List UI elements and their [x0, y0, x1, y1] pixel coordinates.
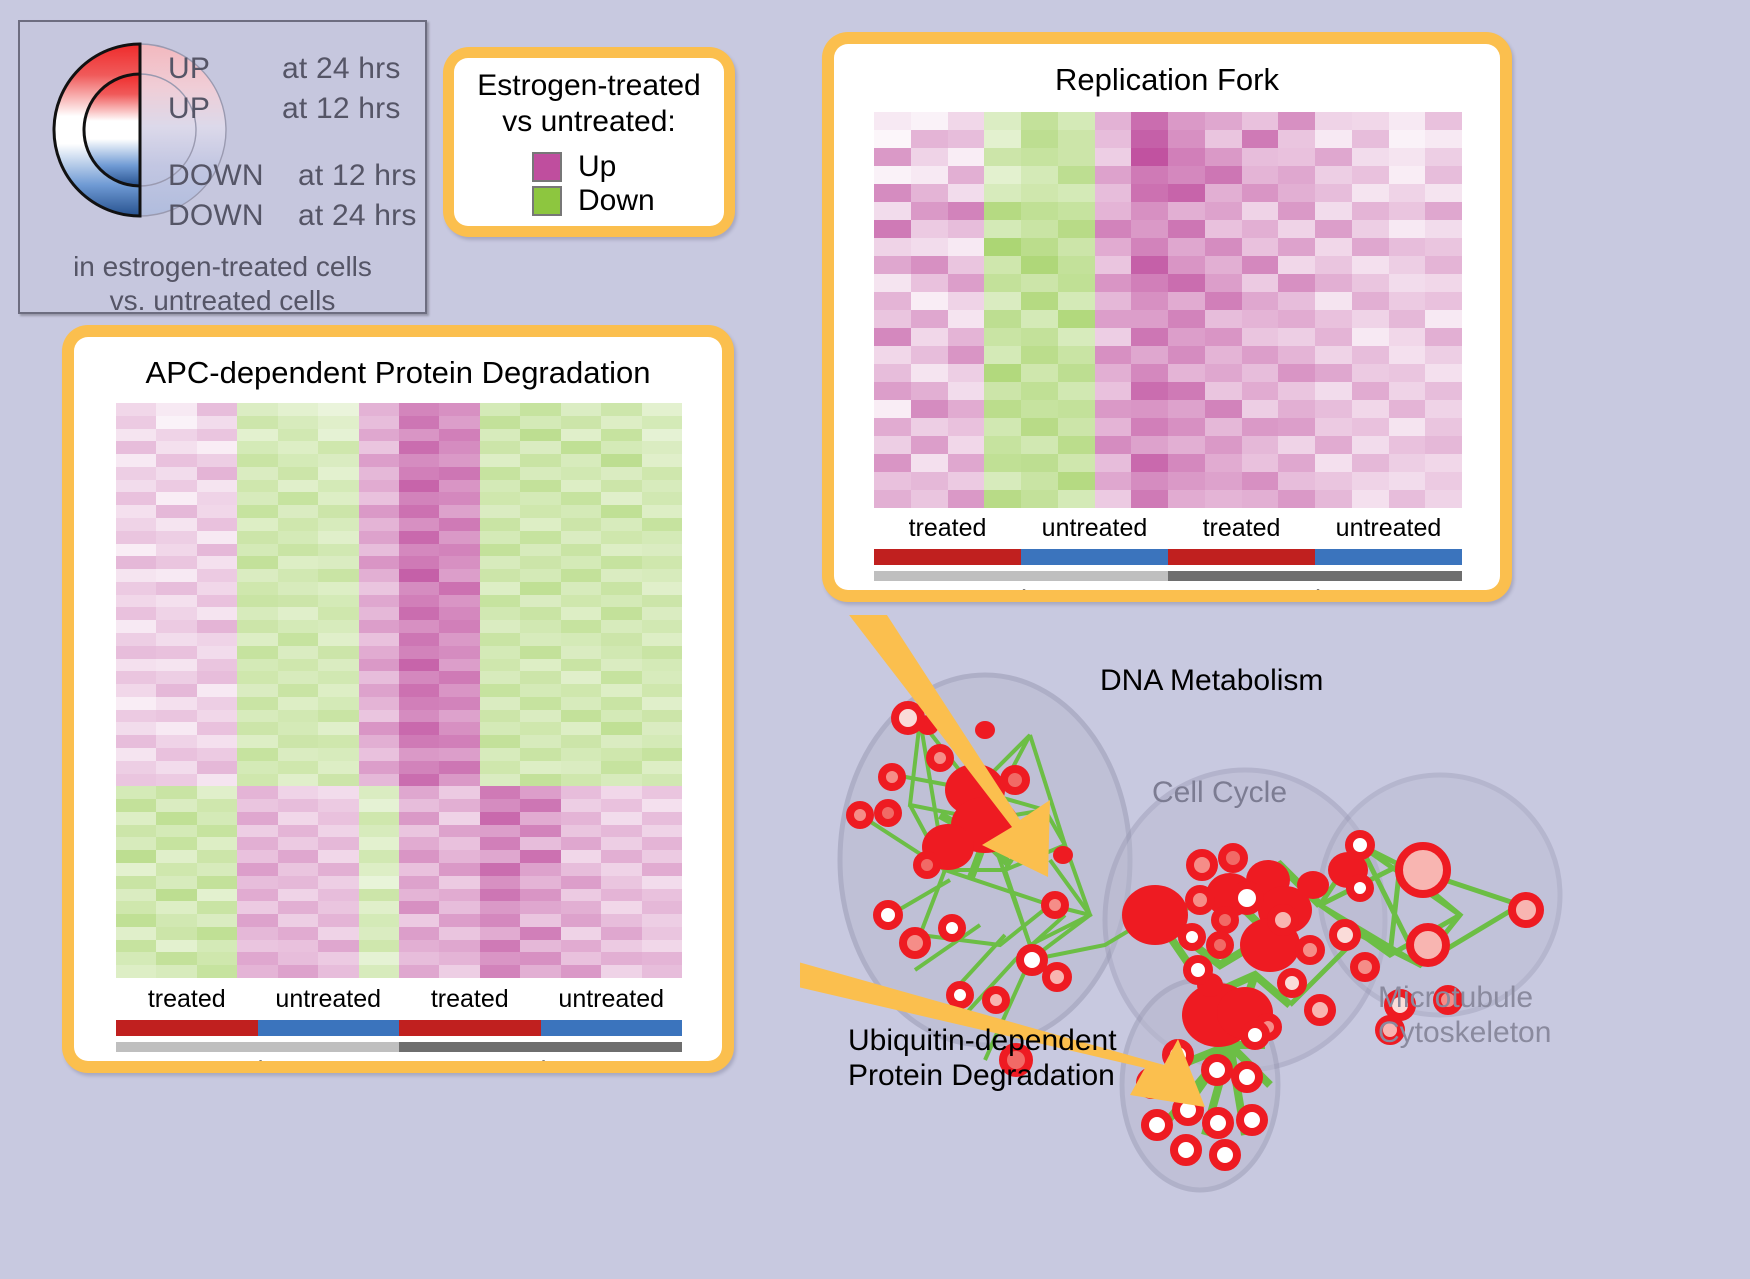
heatmap-cell [237, 722, 277, 735]
heatmap-cell [520, 531, 560, 544]
group-label: untreated [258, 985, 400, 1014]
heatmap-cell [874, 256, 911, 274]
heatmap-cell [911, 328, 948, 346]
legend-title: Estrogen-treated vs untreated: [454, 68, 724, 140]
heatmap-cell [561, 850, 601, 863]
heatmap-cell [318, 889, 358, 902]
heatmap-cell [197, 403, 237, 416]
network-svg [800, 615, 1750, 1279]
heatmap-cell [116, 531, 156, 544]
heatmap-cell [948, 274, 985, 292]
group-label: treated [399, 985, 541, 1014]
heatmap-cell [1389, 472, 1426, 490]
heatmap-cell [480, 582, 520, 595]
heatmap-cell [984, 130, 1021, 148]
heatmap-cell [561, 697, 601, 710]
heatmap-cell [561, 914, 601, 927]
heatmap-cell [1058, 454, 1095, 472]
heatmap-cell [642, 837, 682, 850]
heatmap-cell [278, 863, 318, 876]
heatmap-cell [1131, 310, 1168, 328]
key-down-12-time: at 12 hrs [298, 159, 417, 193]
heatmap-cell [1095, 472, 1132, 490]
group-label: untreated [541, 985, 683, 1014]
heatmap-cell [439, 927, 479, 940]
heatmap-cell [237, 914, 277, 927]
heatmap-cell [439, 684, 479, 697]
heatmap-cell [156, 940, 196, 953]
time-label-24h: 24 hrs [399, 1056, 682, 1061]
heatmap-cell [197, 812, 237, 825]
heatmap-cell [1058, 490, 1095, 508]
heatmap-cell [642, 697, 682, 710]
heatmap-cell [601, 940, 641, 953]
heatmap-cell [116, 837, 156, 850]
heatmap-cell [1389, 364, 1426, 382]
heatmap-cell [984, 238, 1021, 256]
heatmap-cell [911, 184, 948, 202]
cluster-label-cell-cycle: Cell Cycle [1152, 775, 1287, 810]
heatmap-cell [874, 238, 911, 256]
heatmap-cell [642, 761, 682, 774]
heatmap-cell [197, 825, 237, 838]
caption-line-2: vs. untreated cells [20, 284, 425, 318]
heatmap-cell [1425, 202, 1462, 220]
heatmap-cell [601, 965, 641, 978]
heatmap-cell [480, 429, 520, 442]
replication-time-bar [874, 571, 1462, 581]
heatmap-cell [399, 492, 439, 505]
time-bar-24h [399, 1042, 682, 1052]
heatmap-cell [439, 748, 479, 761]
heatmap-cell [911, 148, 948, 166]
heatmap-cell [601, 684, 641, 697]
heatmap-cell [359, 569, 399, 582]
heatmap-cell [1095, 184, 1132, 202]
heatmap-cell [278, 684, 318, 697]
heatmap-cell [439, 774, 479, 787]
heatmap-cell [520, 492, 560, 505]
heatmap-cell [318, 748, 358, 761]
heatmap-cell [1278, 292, 1315, 310]
heatmap-cell [874, 202, 911, 220]
heatmap-cell [561, 952, 601, 965]
heatmap-cell [1242, 148, 1279, 166]
heatmap-cell [197, 940, 237, 953]
heatmap-cell [1425, 184, 1462, 202]
heatmap-cell [156, 735, 196, 748]
heatmap-cell [156, 684, 196, 697]
heatmap-cell [520, 837, 560, 850]
heatmap-cell [156, 863, 196, 876]
heatmap-cell [480, 697, 520, 710]
heatmap-cell [359, 876, 399, 889]
heatmap-cell [1242, 382, 1279, 400]
legend-label-down: Down [578, 186, 655, 216]
heatmap-cell [984, 112, 1021, 130]
heatmap-cell [197, 889, 237, 902]
heatmap-cell [1058, 148, 1095, 166]
heatmap-cell [911, 418, 948, 436]
heatmap-cell [318, 416, 358, 429]
heatmap-cell [520, 403, 560, 416]
heatmap-cell [1095, 238, 1132, 256]
heatmap-cell [561, 837, 601, 850]
heatmap-cell [984, 418, 1021, 436]
down-swatch-icon [532, 186, 562, 216]
heatmap-cell [318, 901, 358, 914]
heatmap-cell [439, 556, 479, 569]
heatmap-cell [278, 403, 318, 416]
heatmap-cell [278, 671, 318, 684]
heatmap-cell [1168, 166, 1205, 184]
heatmap-cell [1389, 220, 1426, 238]
heatmap-cell [1095, 454, 1132, 472]
heatmap-cell [1205, 418, 1242, 436]
treated-bar-24h [399, 1020, 541, 1036]
heatmap-cell [1205, 382, 1242, 400]
heatmap-cell [116, 556, 156, 569]
heatmap-cell [359, 454, 399, 467]
heatmap-cell [984, 202, 1021, 220]
heatmap-cell [642, 454, 682, 467]
heatmap-cell [197, 582, 237, 595]
heatmap-cell [439, 595, 479, 608]
heatmap-cell [984, 436, 1021, 454]
heatmap-cell [1021, 436, 1058, 454]
heatmap-cell [642, 876, 682, 889]
heatmap-cell [237, 735, 277, 748]
heatmap-cell [156, 710, 196, 723]
heatmap-cell [642, 518, 682, 531]
heatmap-cell [439, 607, 479, 620]
heatmap-cell [642, 952, 682, 965]
heatmap-cell [399, 901, 439, 914]
heatmap-cell [1205, 436, 1242, 454]
heatmap-cell [318, 786, 358, 799]
heatmap-cell [1058, 436, 1095, 454]
heatmap-cell [197, 556, 237, 569]
heatmap-cell [278, 416, 318, 429]
heatmap-cell [156, 480, 196, 493]
heatmap-cell [116, 901, 156, 914]
heatmap-cell [1131, 346, 1168, 364]
heatmap-cell [1315, 382, 1352, 400]
key-up-24-label: UP [168, 52, 210, 86]
heatmap-cell [1242, 220, 1279, 238]
heatmap-cell [911, 436, 948, 454]
heatmap-cell [1242, 166, 1279, 184]
heatmap-cell [439, 505, 479, 518]
heatmap-cell [520, 748, 560, 761]
heatmap-cell [278, 607, 318, 620]
heatmap-cell [1352, 382, 1389, 400]
heatmap-cell [318, 825, 358, 838]
heatmap-cell [318, 492, 358, 505]
heatmap-cell [520, 659, 560, 672]
heatmap-cell [642, 556, 682, 569]
heatmap-cell [1095, 274, 1132, 292]
heatmap-cell [948, 346, 985, 364]
heatmap-cell [480, 659, 520, 672]
heatmap-cell [480, 607, 520, 620]
heatmap-cell [561, 825, 601, 838]
heatmap-cell [116, 569, 156, 582]
heatmap-cell [197, 697, 237, 710]
heatmap-cell [278, 454, 318, 467]
heatmap-cell [642, 799, 682, 812]
heatmap-cell [1021, 220, 1058, 238]
heatmap-cell [948, 166, 985, 184]
heatmap-cell [359, 684, 399, 697]
heatmap-cell [561, 441, 601, 454]
heatmap-cell [318, 952, 358, 965]
heatmap-cell [156, 569, 196, 582]
heatmap-cell [1205, 130, 1242, 148]
heatmap-cell [642, 965, 682, 978]
heatmap-cell [237, 403, 277, 416]
group-label: treated [116, 985, 258, 1014]
color-key-caption: in estrogen-treated cells vs. untreated … [20, 250, 425, 318]
heatmap-cell [480, 722, 520, 735]
heatmap-cell [439, 850, 479, 863]
heatmap-cell [359, 697, 399, 710]
heatmap-cell [359, 889, 399, 902]
network-node [1189, 889, 1211, 911]
heatmap-cell [601, 429, 641, 442]
heatmap-cell [1242, 490, 1279, 508]
heatmap-cell [116, 646, 156, 659]
heatmap-cell [1425, 220, 1462, 238]
heatmap-cell [1315, 346, 1352, 364]
heatmap-cell [1021, 256, 1058, 274]
heatmap-cell [1205, 184, 1242, 202]
network-node [1235, 1065, 1259, 1089]
heatmap-cell [1131, 292, 1168, 310]
heatmap-cell [874, 220, 911, 238]
heatmap-cell [318, 684, 358, 697]
heatmap-cell [237, 544, 277, 557]
heatmap-cell [561, 595, 601, 608]
heatmap-cell [480, 914, 520, 927]
heatmap-cell [642, 812, 682, 825]
heatmap-cell [1352, 202, 1389, 220]
heatmap-cell [1278, 400, 1315, 418]
network-node [1308, 998, 1332, 1022]
heatmap-cell [197, 505, 237, 518]
heatmap-cell [561, 646, 601, 659]
heatmap-cell [561, 429, 601, 442]
heatmap-cell [874, 310, 911, 328]
heatmap-cell [480, 863, 520, 876]
heatmap-cell [1389, 184, 1426, 202]
heatmap-cell [116, 722, 156, 735]
heatmap-cell [1058, 202, 1095, 220]
heatmap-cell [874, 274, 911, 292]
heatmap-cell [1352, 454, 1389, 472]
heatmap-cell [874, 166, 911, 184]
heatmap-cell [1205, 328, 1242, 346]
heatmap-cell [399, 812, 439, 825]
heatmap-cell [359, 505, 399, 518]
heatmap-cell [1021, 346, 1058, 364]
heatmap-cell [1058, 382, 1095, 400]
heatmap-cell [318, 774, 358, 787]
heatmap-cell [561, 518, 601, 531]
key-up-12-label: UP [168, 92, 210, 126]
heatmap-cell [1242, 328, 1279, 346]
heatmap-cell [1168, 202, 1205, 220]
heatmap-cell [1131, 238, 1168, 256]
heatmap-cell [948, 328, 985, 346]
heatmap-cell [1168, 238, 1205, 256]
heatmap-cell [601, 812, 641, 825]
heatmap-cell [1278, 184, 1315, 202]
heatmap-cell [439, 901, 479, 914]
heatmap-cell [642, 863, 682, 876]
untreated-bar-12h [1021, 549, 1168, 565]
network-node [882, 767, 902, 787]
heatmap-cell [1278, 490, 1315, 508]
heatmap-cell [520, 646, 560, 659]
time-label-24h: 24 hrs [1168, 585, 1462, 590]
heatmap-cell [911, 112, 948, 130]
heatmap-cell [1021, 454, 1058, 472]
heatmap-cell [520, 799, 560, 812]
heatmap-cell [480, 735, 520, 748]
heatmap-cell [116, 825, 156, 838]
heatmap-cell [439, 940, 479, 953]
heatmap-cell [561, 710, 601, 723]
heatmap-cell [1021, 292, 1058, 310]
heatmap-cell [156, 761, 196, 774]
heatmap-cell [984, 490, 1021, 508]
heatmap-cell [399, 416, 439, 429]
heatmap-cell [642, 901, 682, 914]
heatmap-cell [1352, 148, 1389, 166]
heatmap-cell [439, 710, 479, 723]
heatmap-cell [156, 454, 196, 467]
heatmap-cell [520, 429, 560, 442]
heatmap-cell [1352, 364, 1389, 382]
heatmap-cell [156, 812, 196, 825]
heatmap-cell [601, 646, 641, 659]
heatmap-cell [1095, 166, 1132, 184]
heatmap-cell [399, 825, 439, 838]
heatmap-cell [318, 646, 358, 659]
heatmap-cell [278, 710, 318, 723]
heatmap-cell [116, 659, 156, 672]
heatmap-cell [439, 492, 479, 505]
heatmap-cell [318, 710, 358, 723]
heatmap-cell [197, 595, 237, 608]
heatmap-cell [318, 403, 358, 416]
heatmap-cell [278, 914, 318, 927]
heatmap-cell [1352, 274, 1389, 292]
heatmap-cell [1168, 130, 1205, 148]
heatmap-cell [237, 556, 277, 569]
heatmap-cell [984, 472, 1021, 490]
heatmap-cell [278, 722, 318, 735]
heatmap-cell [520, 850, 560, 863]
heatmap-cell [359, 659, 399, 672]
replication-fork-panel: Replication Fork treated untreated treat… [822, 32, 1512, 602]
heatmap-cell [642, 735, 682, 748]
heatmap-cell [642, 722, 682, 735]
heatmap-cell [156, 837, 196, 850]
heatmap-cell [116, 889, 156, 902]
heatmap-cell [156, 965, 196, 978]
heatmap-cell [561, 454, 601, 467]
key-up-24-time: at 24 hrs [282, 52, 401, 86]
heatmap-cell [278, 927, 318, 940]
heatmap-cell [197, 646, 237, 659]
heatmap-cell [197, 429, 237, 442]
heatmap-cell [237, 710, 277, 723]
heatmap-cell [156, 556, 196, 569]
heatmap-cell [642, 914, 682, 927]
heatmap-cell [1315, 112, 1352, 130]
apc-time-bar [116, 1042, 682, 1052]
heatmap-cell [197, 518, 237, 531]
untreated-bar-24h [1315, 549, 1462, 565]
heatmap-cell [359, 429, 399, 442]
heatmap-cell [520, 441, 560, 454]
heatmap-cell [1205, 112, 1242, 130]
heatmap-cell [278, 889, 318, 902]
heatmap-cell [1095, 418, 1132, 436]
heatmap-cell [642, 480, 682, 493]
heatmap-cell [1389, 256, 1426, 274]
heatmap-cell [1058, 292, 1095, 310]
heatmap-cell [318, 799, 358, 812]
heatmap-cell [359, 901, 399, 914]
heatmap-cell [359, 671, 399, 684]
heatmap-cell [480, 544, 520, 557]
heatmap-cell [1315, 436, 1352, 454]
heatmap-cell [439, 837, 479, 850]
heatmap-cell [1095, 310, 1132, 328]
heatmap-cell [156, 799, 196, 812]
heatmap-cell [1389, 148, 1426, 166]
heatmap-cell [948, 256, 985, 274]
replication-treatment-bar [874, 549, 1462, 565]
heatmap-cell [278, 901, 318, 914]
heatmap-cell [642, 544, 682, 557]
heatmap-cell [116, 403, 156, 416]
heatmap-cell [601, 850, 641, 863]
apc-degradation-inner: APC-dependent Protein Degradation treate… [74, 337, 722, 1061]
heatmap-cell [911, 364, 948, 382]
heatmap-cell [1389, 112, 1426, 130]
heatmap-cell [1205, 346, 1242, 364]
heatmap-cell [278, 774, 318, 787]
heatmap-cell [642, 607, 682, 620]
heatmap-cell [874, 364, 911, 382]
heatmap-cell [237, 505, 277, 518]
heatmap-cell [480, 940, 520, 953]
heatmap-cell [1315, 184, 1352, 202]
heatmap-cell [642, 416, 682, 429]
heatmap-cell [1095, 364, 1132, 382]
heatmap-cell [984, 166, 1021, 184]
heatmap-cell [278, 786, 318, 799]
heatmap-cell [1389, 328, 1426, 346]
heatmap-cell [642, 684, 682, 697]
heatmap-cell [197, 965, 237, 978]
heatmap-cell [1425, 310, 1462, 328]
heatmap-cell [1389, 436, 1426, 454]
